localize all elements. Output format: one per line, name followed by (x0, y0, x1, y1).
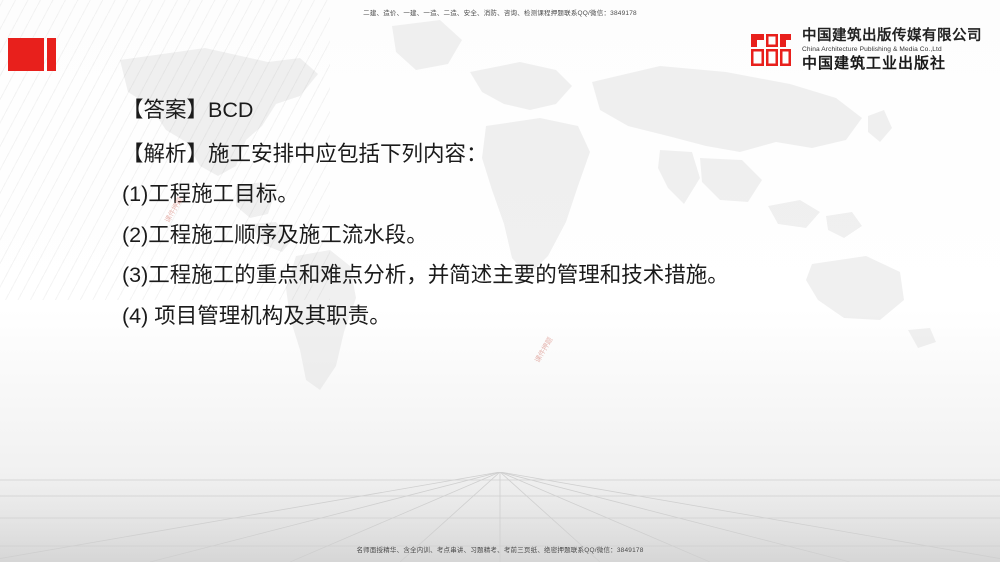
slide-body: 【答案】BCD 【解析】施工安排中应包括下列内容： (1)工程施工目标。 (2)… (122, 100, 952, 346)
explanation-heading-line: 【解析】施工安排中应包括下列内容： (122, 144, 952, 166)
explanation-item-2: (2)工程施工顺序及施工流水段。 (122, 225, 952, 247)
answer-line: 【答案】BCD (122, 100, 952, 122)
publisher-company-en: China Architecture Publishing & Media Co… (802, 46, 982, 53)
explanation-item-1: (1)工程施工目标。 (122, 184, 952, 206)
publisher-company-cn: 中国建筑出版传媒有限公司 (802, 28, 982, 44)
building-blocks-logo-icon (749, 28, 793, 72)
accent-block-large (8, 38, 44, 71)
publisher-logo: 中国建筑出版传媒有限公司 China Architecture Publishi… (749, 28, 982, 72)
bottom-banner-text: 名师面授精华、含全内训、考点串讲、习题精考、考前三页纸、绝密押题联系QQ/微信：… (0, 544, 1000, 554)
slide-canvas: 二建、造价、一建、一造、二造、安全、消防、咨询、检测课程押题联系QQ/微信：38… (0, 0, 1000, 562)
top-banner-text: 二建、造价、一建、一造、二造、安全、消防、咨询、检测课程押题联系QQ/微信：38… (0, 7, 1000, 17)
red-accent-marks (8, 38, 56, 71)
accent-block-small (47, 38, 56, 71)
explanation-item-3: (3)工程施工的重点和难点分析，并简述主要的管理和技术措施。 (122, 265, 952, 287)
publisher-logo-text: 中国建筑出版传媒有限公司 China Architecture Publishi… (802, 28, 982, 71)
publisher-press-cn: 中国建筑工业出版社 (802, 55, 982, 72)
explanation-item-4: (4) 项目管理机构及其职责。 (122, 306, 952, 328)
